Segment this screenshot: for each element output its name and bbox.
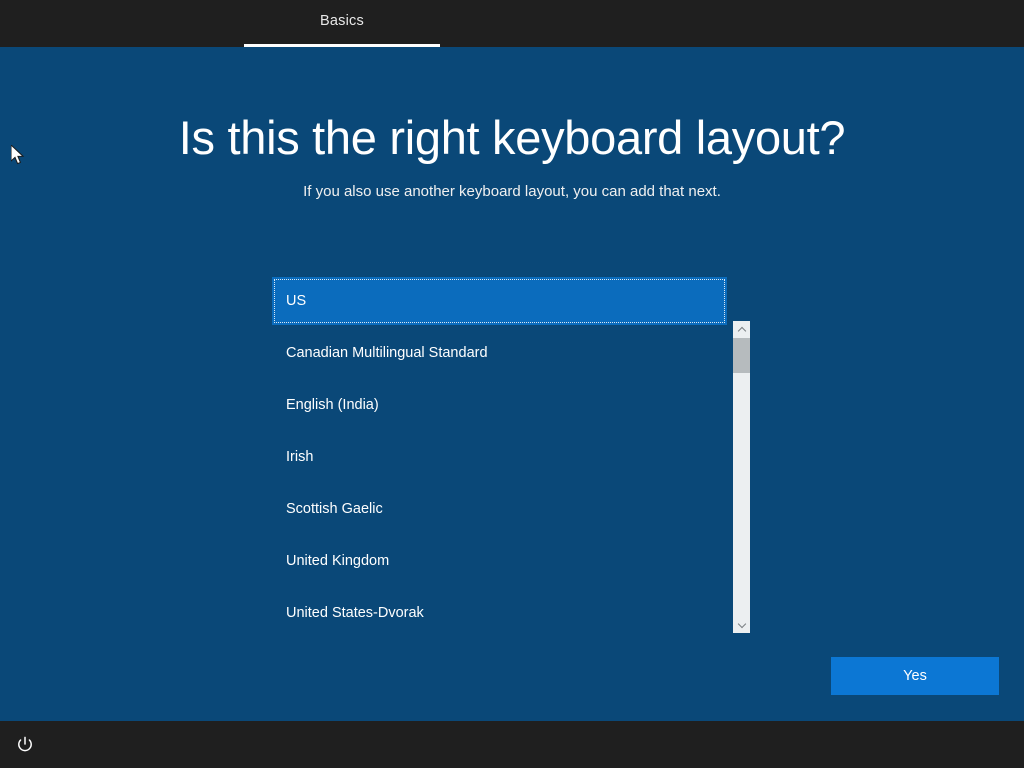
oobe-top-bar: Basics	[0, 0, 1024, 47]
oobe-bottom-bar	[0, 721, 1024, 768]
list-item[interactable]: US	[272, 277, 727, 325]
oobe-main-stage: Is this the right keyboard layout? If yo…	[0, 47, 1024, 721]
chevron-up-icon	[738, 326, 745, 333]
keyboard-layout-list[interactable]: US Canadian Multilingual Standard Englis…	[272, 277, 727, 633]
page-subtitle: If you also use another keyboard layout,…	[0, 183, 1024, 200]
page-title: Is this the right keyboard layout?	[0, 113, 1024, 162]
scrollbar-thumb[interactable]	[733, 338, 750, 373]
list-scrollbar[interactable]	[733, 321, 750, 633]
scrollbar-down-button[interactable]	[733, 616, 750, 633]
list-item-label: Irish	[286, 449, 313, 465]
tab-basics[interactable]: Basics	[244, 0, 440, 47]
list-item[interactable]: Scottish Gaelic	[272, 485, 727, 533]
list-item-label: Canadian Multilingual Standard	[286, 345, 488, 361]
list-item-label: United Kingdom	[286, 553, 389, 569]
list-item[interactable]: United Kingdom	[272, 537, 727, 585]
list-item-label: United States-Dvorak	[286, 605, 424, 621]
list-item[interactable]: Canadian Multilingual Standard	[272, 329, 727, 377]
power-button[interactable]	[12, 732, 38, 758]
list-item-label: Scottish Gaelic	[286, 501, 383, 517]
power-icon	[15, 735, 35, 755]
list-item[interactable]: United States-Dvorak	[272, 589, 727, 633]
chevron-down-icon	[738, 621, 745, 628]
scrollbar-up-button[interactable]	[733, 321, 750, 338]
tab-basics-label: Basics	[320, 14, 364, 33]
yes-button[interactable]: Yes	[831, 657, 999, 695]
list-item[interactable]: English (India)	[272, 381, 727, 429]
list-item-label: US	[286, 293, 306, 309]
list-item[interactable]: Irish	[272, 433, 727, 481]
scrollbar-track[interactable]	[733, 338, 750, 616]
list-item-label: English (India)	[286, 397, 379, 413]
tab-strip: Basics	[244, 0, 440, 47]
keyboard-layout-listbox[interactable]: US Canadian Multilingual Standard Englis…	[272, 277, 752, 633]
